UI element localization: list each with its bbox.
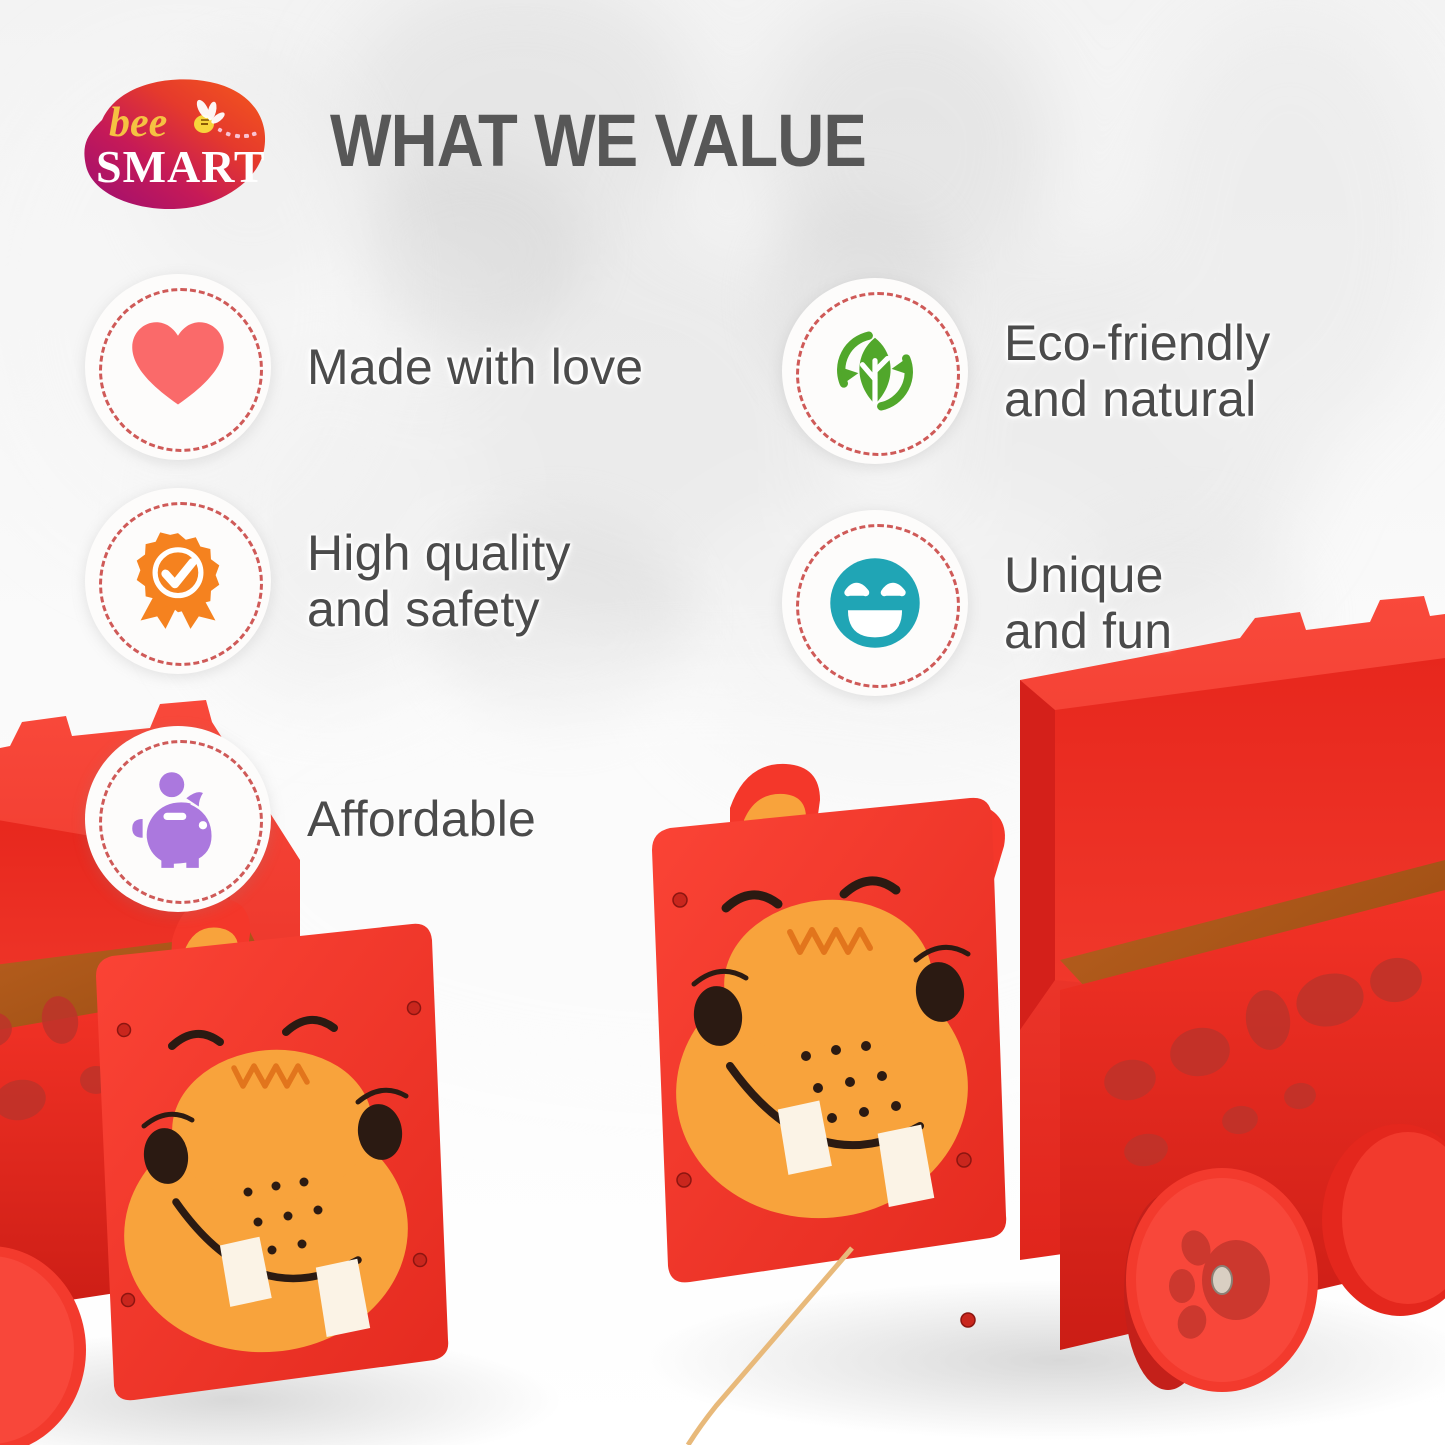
page-title: WHAT WE VALUE [330,104,866,178]
feature-badge [782,510,968,696]
brand-logo[interactable]: bee SMART [78,74,270,214]
recycle-leaf-icon [823,319,927,423]
feature-badge [85,726,271,912]
feature-affordable[interactable]: Affordable [85,726,536,912]
feature-badge [782,278,968,464]
feature-high-quality[interactable]: High quality and safety [85,488,571,674]
feature-made-with-love[interactable]: Made with love [85,274,643,460]
feature-label: High quality and safety [307,525,571,637]
award-ribbon-icon [126,529,230,633]
feature-badge [85,274,271,460]
feature-unique-and-fun[interactable]: Unique and fun [782,510,1172,696]
feature-badge [85,488,271,674]
logo-word-smart: SMART [96,141,266,192]
logo-word-bee: bee [109,100,167,146]
wheel-front-right [1124,1168,1318,1392]
hippo-face-right [652,764,1006,1327]
feature-label: Unique and fun [1004,547,1172,659]
feature-label: Affordable [307,791,536,847]
feature-label: Made with love [307,339,643,395]
feature-label: Eco-friendly and natural [1004,315,1270,427]
piggy-bank-icon [126,767,230,871]
feature-eco-friendly[interactable]: Eco-friendly and natural [782,278,1270,464]
heart-icon [126,315,230,419]
smiley-face-icon [823,551,927,655]
promo-graphic: bee SMART WHAT WE VALUE [0,0,1445,1445]
product-image-hippo-toy-boxes [0,560,1445,1445]
hippo-face-left [96,898,448,1401]
